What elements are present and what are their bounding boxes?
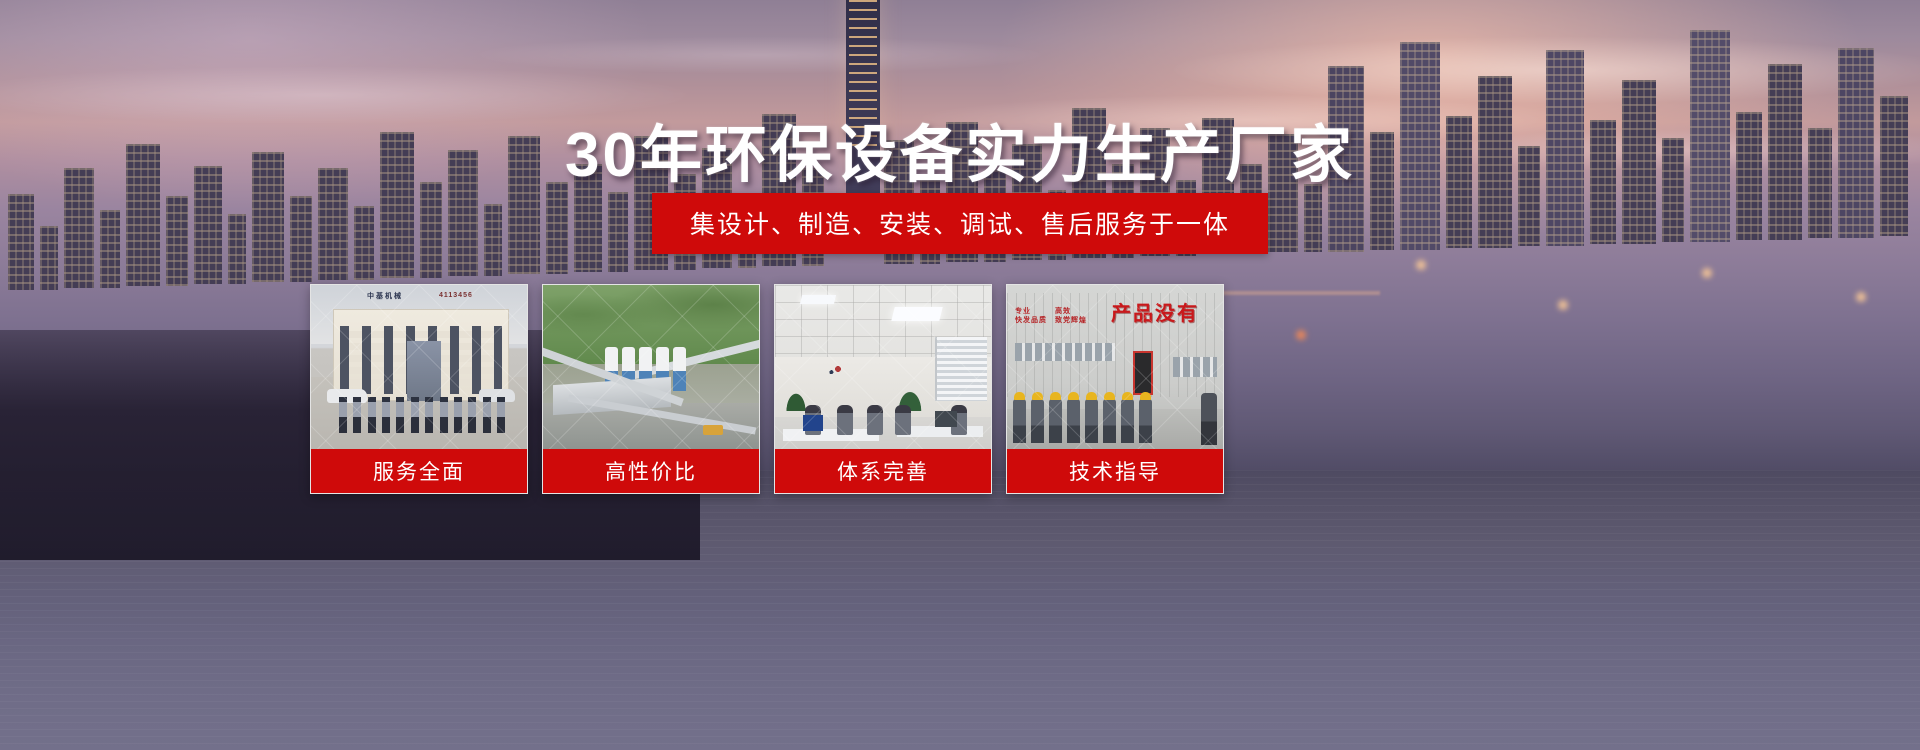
factory-slogan-left: 专业快发品质 xyxy=(1015,307,1047,325)
factory-workers-photo: 专业快发品质 高效致党辉煌 产品没有 xyxy=(1007,285,1223,449)
feature-card[interactable]: 中基机械 4113456 服务全面 xyxy=(310,284,528,494)
banner-content: 30年环保设备实力生产厂家 集设计、制造、安装、调试、售后服务于一体 中基机械 … xyxy=(0,0,1920,750)
page-title: 30年环保设备实力生产厂家 xyxy=(0,104,1920,194)
factory-slogan-right: 高效致党辉煌 xyxy=(1055,307,1087,325)
aerial-production-plant-photo xyxy=(543,285,759,449)
feature-card[interactable]: 体系完善 xyxy=(774,284,992,494)
subtitle-badge: 集设计、制造、安装、调试、售后服务于一体 xyxy=(652,193,1268,254)
building-phone-text: 4113456 xyxy=(439,292,473,299)
feature-card[interactable]: 专业快发品质 高效致党辉煌 产品没有 技术指导 xyxy=(1006,284,1224,494)
banner-stage: 30年环保设备实力生产厂家 集设计、制造、安装、调试、售后服务于一体 中基机械 … xyxy=(0,0,1920,750)
subtitle-row: 集设计、制造、安装、调试、售后服务于一体 xyxy=(0,193,1920,254)
card-caption: 体系完善 xyxy=(775,449,991,493)
card-caption: 高性价比 xyxy=(543,449,759,493)
company-office-building-photo: 中基机械 4113456 xyxy=(311,285,527,449)
building-sign-text: 中基机械 xyxy=(367,291,403,301)
office-workspace-photo xyxy=(775,285,991,449)
feature-card-list: 中基机械 4113456 服务全面 xyxy=(310,284,1610,494)
card-caption: 技术指导 xyxy=(1007,449,1223,493)
card-caption: 服务全面 xyxy=(311,449,527,493)
feature-card[interactable]: 高性价比 xyxy=(542,284,760,494)
factory-banner-text: 产品没有 xyxy=(1111,297,1199,326)
